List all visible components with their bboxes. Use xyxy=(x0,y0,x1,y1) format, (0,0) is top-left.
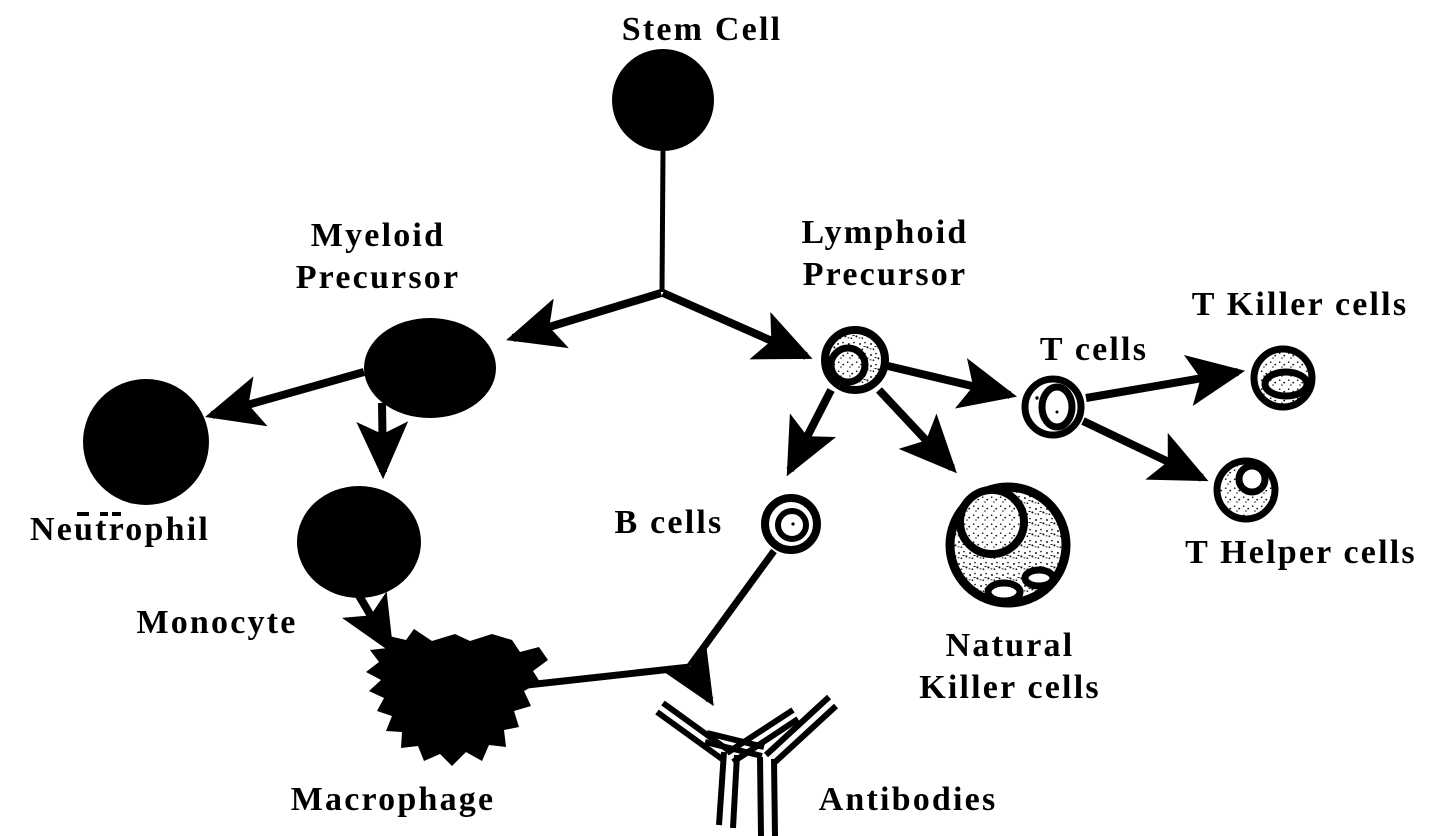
label-t-cells: T cells xyxy=(1019,330,1169,370)
hematopoiesis-artwork xyxy=(0,0,1444,836)
label-stem-cell: Stem Cell xyxy=(597,10,807,50)
edge-tcells-to-thelper xyxy=(1083,421,1202,478)
edge-bcells-to-junction xyxy=(690,551,774,666)
edge-tcells-to-tkiller xyxy=(1086,372,1238,398)
node-macrophage xyxy=(366,629,548,766)
label-t-killer-cells: T Killer cells xyxy=(1162,285,1438,325)
label-natural-killer-line1: Natural xyxy=(908,625,1112,667)
node-neutrophil xyxy=(83,379,209,505)
node-myeloid-precursor xyxy=(364,318,496,418)
node-t-cells xyxy=(1025,379,1081,435)
edge-myeloid-to-neutrophil xyxy=(212,372,364,415)
edge-stem-to-branch xyxy=(662,151,663,292)
label-t-helper-cells: T Helper cells xyxy=(1159,533,1443,573)
edge-lymphoid-to-bcells xyxy=(790,390,831,470)
label-lymphoid-precursor-line2: Precursor xyxy=(777,254,993,296)
node-b-cells xyxy=(765,498,817,550)
edge-lymphoid-to-tcells xyxy=(888,366,1010,395)
label-neutrophil: Neutrophil xyxy=(8,510,232,550)
node-monocyte xyxy=(297,486,421,598)
node-natural-killer-cells xyxy=(950,487,1066,603)
label-natural-killer-line2: Killer cells xyxy=(880,667,1140,709)
diagram-canvas: Stem Cell Myeloid Precursor Lymphoid Pre… xyxy=(0,0,1444,836)
node-t-killer-cells xyxy=(1254,349,1312,407)
edge-myeloid-to-monocyte xyxy=(382,403,383,472)
label-myeloid-precursor-line2: Precursor xyxy=(268,257,488,299)
label-monocyte: Monocyte xyxy=(118,603,316,643)
node-t-helper-cells xyxy=(1217,461,1275,519)
node-stem-cell xyxy=(612,49,714,151)
label-b-cells: B cells xyxy=(594,503,744,543)
edge-branch-to-lymphoid xyxy=(663,293,806,356)
label-myeloid-precursor-line1: Myeloid xyxy=(268,215,488,257)
label-lymphoid-precursor-line1: Lymphoid xyxy=(777,212,993,254)
label-macrophage: Macrophage xyxy=(268,780,518,820)
edge-monocyte-to-macrophage xyxy=(358,594,390,648)
node-lymphoid-precursor xyxy=(825,330,885,390)
edge-lymphoid-to-nk xyxy=(879,390,952,468)
label-antibodies: Antibodies xyxy=(800,780,1016,820)
edge-junction-to-antibodies xyxy=(690,667,710,700)
edge-branch-to-myeloid xyxy=(513,293,661,338)
